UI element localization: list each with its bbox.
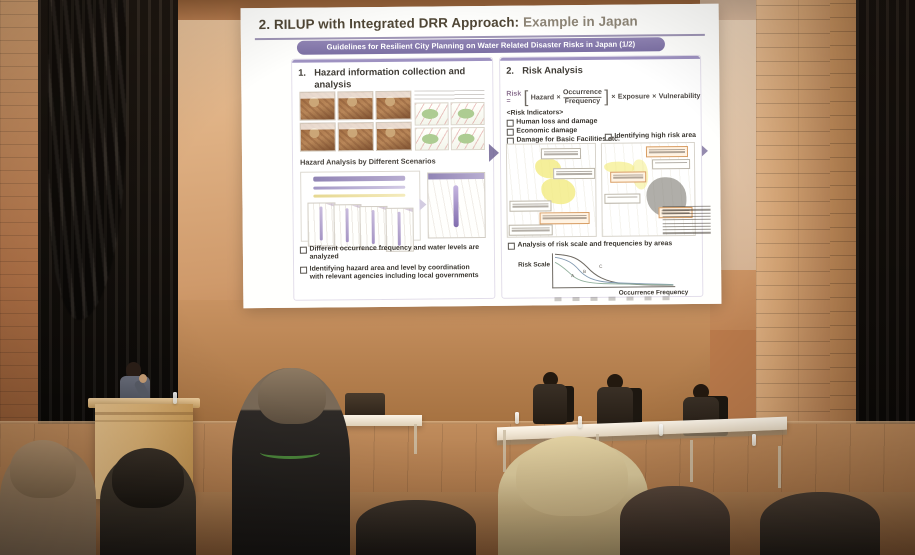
audience-member	[760, 492, 880, 555]
formula-hazard: Hazard	[531, 94, 554, 101]
scenario-subheading: Hazard Analysis by Different Scenarios	[300, 156, 436, 166]
flow-arrow-icon	[419, 199, 426, 211]
map-callout	[541, 148, 581, 159]
panel-risk-analysis: 2. Risk Analysis Risk = [ Hazard × Occur…	[499, 55, 703, 299]
formula-times-1: ×	[556, 94, 560, 101]
presenter-hand	[139, 374, 147, 383]
checkbox-icon	[605, 134, 612, 141]
risk-analysis-caption-text: Analysis of risk scale and frequencies b…	[517, 240, 672, 250]
lanyard	[260, 446, 320, 459]
panelist-1	[533, 372, 567, 424]
panel-header-bar	[292, 58, 492, 63]
map-callout	[604, 193, 640, 203]
audience-head	[516, 436, 628, 516]
table-leg	[690, 440, 693, 482]
formula-times-3: ×	[652, 93, 656, 100]
formula-exposure: Exposure	[618, 93, 650, 100]
landuse-map-thumbnail	[451, 127, 485, 150]
terrain-thumbnail	[338, 122, 374, 151]
chart-x-ticks	[554, 296, 674, 301]
table-leg	[414, 424, 417, 454]
table-leg	[503, 430, 506, 472]
audience-head	[10, 440, 76, 498]
panelist-2	[597, 374, 633, 428]
hazard-extent-map	[506, 143, 597, 238]
chart-y-axis-label: Risk Scale	[518, 261, 550, 268]
landuse-map-thumbnail	[450, 102, 484, 125]
map-callout	[509, 200, 551, 211]
terrain-thumbnail	[337, 91, 373, 120]
audience-head	[258, 368, 326, 424]
checkbox-icon	[507, 120, 514, 127]
formula-frac-bottom: Frequency	[565, 98, 600, 105]
terrain-thumbnail-grid	[299, 91, 412, 152]
empty-chair	[345, 393, 385, 417]
water-bottle	[515, 412, 519, 424]
risk-indicators-title: <Risk Indicators>	[507, 109, 564, 117]
landuse-map-thumbnail	[415, 127, 449, 150]
audience-member	[356, 500, 476, 555]
svg-text:B: B	[583, 269, 586, 274]
risk-indicator-item: Human loss and damage	[507, 118, 598, 127]
map-callout	[652, 159, 690, 169]
left-bullet-text: Different occurrence frequency and water…	[309, 244, 485, 262]
slide-title: 2. RILUP with Integrated DRR Approach: E…	[259, 13, 709, 32]
right-stage-curtain	[856, 0, 915, 470]
scenario-map-card	[333, 204, 361, 248]
scenario-map-card	[359, 206, 387, 250]
table-leg	[778, 446, 781, 488]
scenario-diagram	[300, 171, 421, 242]
chart-curves: C B A	[553, 252, 675, 287]
map-callout-highlight	[646, 146, 688, 157]
audience-member	[620, 486, 730, 555]
chart-axes: C B A	[552, 252, 675, 288]
panelist-torso	[533, 384, 567, 424]
checkbox-icon	[300, 267, 307, 274]
left-bullet-text: Identifying hazard area and level by coo…	[310, 264, 486, 282]
scenario-title-bar	[313, 176, 405, 182]
audience-head	[112, 448, 184, 508]
risk-frequency-chart: Risk Scale C B A Occurrence Frequency	[518, 252, 688, 296]
landuse-map-grid	[414, 102, 484, 151]
terrain-thumbnail	[375, 91, 411, 120]
water-bottle	[173, 392, 177, 404]
panel-header-bar	[500, 56, 700, 61]
slide-title-light: Example in Japan	[523, 13, 638, 29]
risk-formula: Risk = [ Hazard × Occurrence Frequency ]…	[506, 86, 696, 108]
risk-analysis-caption: Analysis of risk scale and frequencies b…	[508, 240, 672, 250]
map-callout-highlight	[540, 212, 590, 224]
water-bottle	[659, 424, 663, 436]
formula-lhs: Risk =	[506, 91, 521, 105]
risk-indicator-text: Economic damage	[516, 127, 577, 136]
formula-fraction: Occurrence Frequency	[563, 89, 602, 106]
risk-indicator-item: Economic damage	[507, 127, 578, 136]
slide-title-main: 2. RILUP with Integrated DRR Approach:	[259, 15, 520, 32]
landuse-map-thumbnail	[414, 102, 448, 125]
slide-banner: Guidelines for Resilient City Planning o…	[297, 37, 665, 55]
panel-left-heading: Hazard information collection and analys…	[314, 65, 486, 90]
svg-text:C: C	[599, 264, 603, 269]
checkbox-icon	[300, 247, 307, 254]
checkbox-icon	[508, 243, 515, 250]
scenario-map-card	[307, 202, 335, 246]
water-bottle	[578, 416, 582, 428]
auditorium-scene: 2. RILUP with Integrated DRR Approach: E…	[0, 0, 915, 555]
high-risk-area-caption: Identifying high risk area	[605, 132, 696, 141]
panel-right-number: 2.	[506, 65, 514, 76]
water-bottle	[752, 434, 756, 446]
panel-hazard-information: 1. Hazard information collection and ana…	[291, 57, 495, 301]
panel-flow-arrow-icon	[489, 144, 499, 162]
scenario-axis-upper	[313, 186, 405, 190]
hazard-result-map	[427, 172, 486, 239]
risk-indicator-text: Human loss and damage	[516, 118, 597, 127]
terrain-thumbnail	[300, 122, 336, 151]
left-bullet-item: Identifying hazard area and level by coo…	[300, 264, 485, 283]
scenario-axis-lower	[313, 194, 405, 198]
checkbox-icon	[507, 129, 514, 136]
left-bullet-item: Different occurrence frequency and water…	[300, 244, 485, 263]
formula-times-2: ×	[611, 93, 615, 100]
map-callout	[553, 168, 595, 179]
japanese-caption-text	[414, 90, 484, 101]
high-risk-area-text: Identifying high risk area	[614, 132, 696, 141]
map-callout	[509, 224, 553, 235]
map-callout-highlight	[610, 171, 646, 182]
terrain-thumbnail	[299, 91, 335, 120]
terrain-thumbnail	[376, 122, 412, 151]
slide-source-note	[662, 204, 710, 236]
panel-right-heading: Risk Analysis	[522, 63, 694, 76]
panel-left-number: 1.	[298, 67, 306, 78]
formula-vulnerability: Vulnerability	[659, 92, 701, 99]
chart-x-axis-label: Occurrence Frequency	[619, 289, 689, 297]
formula-frac-top: Occurrence	[563, 89, 602, 96]
projected-slide: 2. RILUP with Integrated DRR Approach: E…	[241, 4, 722, 309]
